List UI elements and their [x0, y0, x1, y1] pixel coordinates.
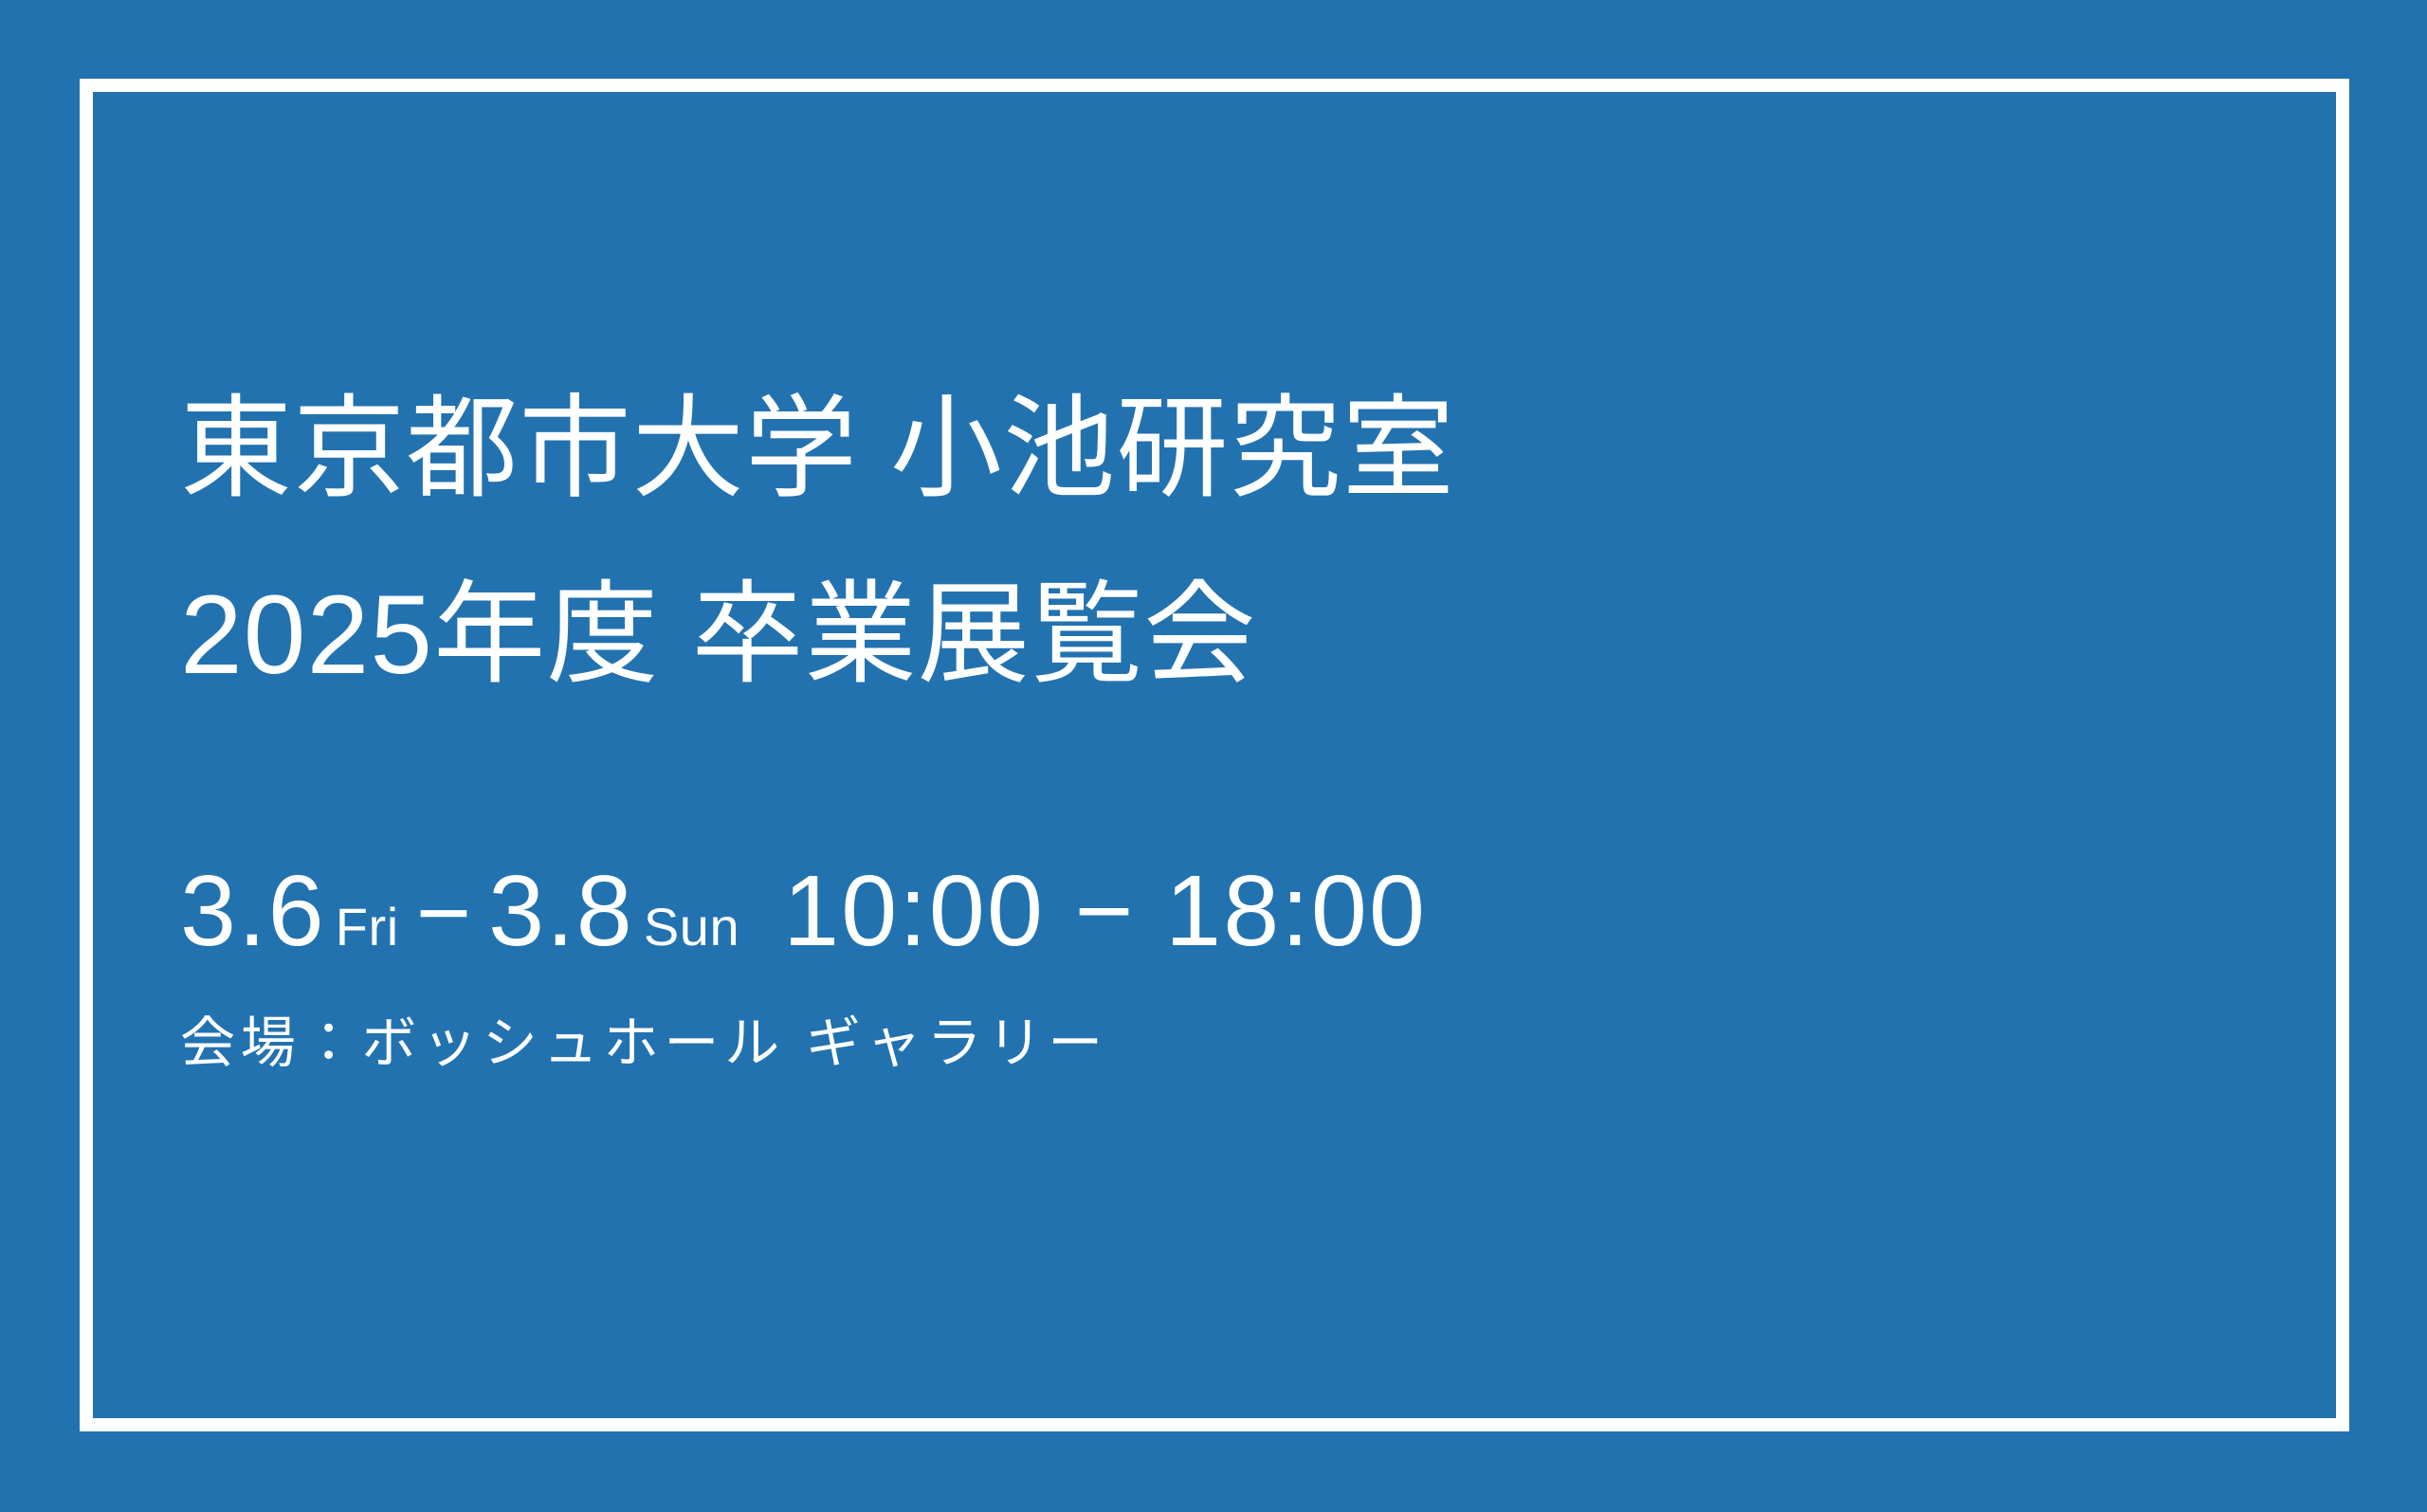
opening-hours: 10:00 − 18:00 [783, 861, 1427, 961]
title-line-2: 2025年度 卒業展覧会 [180, 542, 2247, 728]
start-day-of-week: Fri [336, 901, 399, 954]
exhibition-poster: 東京都市大学 小池研究室 2025年度 卒業展覧会 3.6 Fri − 3.8 … [0, 0, 2427, 1512]
start-date: 3.6 [180, 861, 326, 961]
poster-title: 東京都市大学 小池研究室 2025年度 卒業展覧会 [180, 356, 2247, 728]
schedule-line: 3.6 Fri − 3.8 Sun 10:00 − 18:00 [180, 861, 2247, 961]
venue-line: 会場：ボッシュホール ギャラリー [180, 1011, 2247, 1077]
title-line-1: 東京都市大学 小池研究室 [180, 356, 2247, 542]
date-range-separator: − [416, 865, 471, 960]
end-day-of-week: Sun [644, 901, 739, 954]
end-date: 3.8 [488, 861, 634, 961]
poster-content: 東京都市大学 小池研究室 2025年度 卒業展覧会 3.6 Fri − 3.8 … [180, 356, 2247, 1077]
